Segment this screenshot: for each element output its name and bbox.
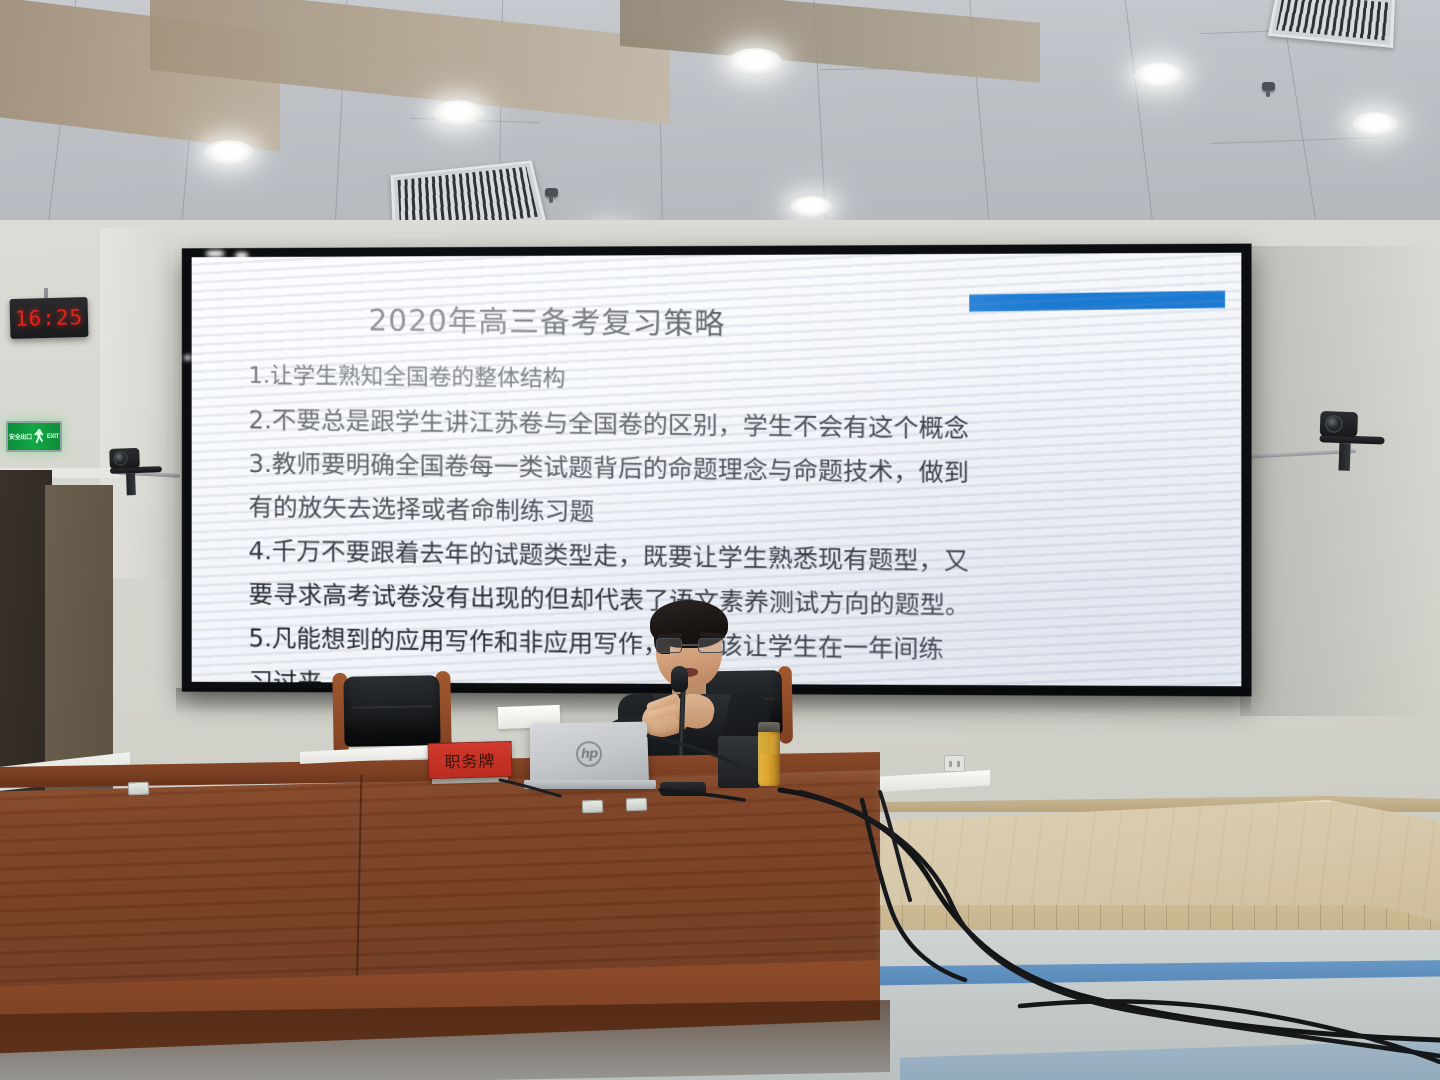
laptop-base [524, 780, 656, 789]
exit-sign-label-cn: 安全出口 [9, 432, 32, 441]
microphone-base [660, 782, 706, 796]
ptz-camera-left [109, 447, 163, 496]
digital-wall-clock: 16:25 [9, 297, 88, 339]
ceiling-downlight [728, 48, 782, 75]
bottle-cap [758, 722, 780, 732]
desk-label-plate [626, 798, 647, 812]
slide-accent-bar [969, 291, 1225, 312]
hp-laptop[interactable]: hp [530, 722, 649, 785]
slide-bullet-2: 2.不要总是跟学生讲江苏卷与全国卷的区别，学生不会有这个概念 [248, 402, 1192, 451]
microphone-head [671, 666, 688, 692]
wall-shadow [1240, 246, 1440, 716]
desk-label-plate [128, 782, 149, 796]
ceiling-downlight [790, 196, 832, 217]
ptz-camera-right [1318, 411, 1385, 472]
lecture-hall-scene: 16:25 安全出口 EXIT 2020年高三备考复习策略 1.让学生熟知全国卷… [0, 0, 1440, 1080]
desk-equipment-box [718, 736, 760, 788]
running-man-icon [34, 429, 45, 444]
ceiling-downlight [1352, 112, 1398, 136]
slide-bullet-1: 1.让学生熟知全国卷的整体结构 [248, 358, 1192, 406]
eyeglasses [656, 638, 724, 653]
ceiling-downlight [1134, 62, 1184, 88]
hp-logo: hp [576, 741, 602, 767]
desk-nameplate: 职务牌 [428, 741, 513, 779]
presenter-chair-left[interactable] [343, 675, 440, 747]
slide-bullet-4: 4.千万不要跟着去年的试题类型走，既要让学生熟悉现有题型，又 [248, 532, 1192, 583]
desk-label-plate [582, 800, 603, 814]
emergency-exit-sign: 安全出口 EXIT [6, 421, 62, 452]
tea-bottle [758, 730, 780, 786]
nameplate-text: 职务牌 [444, 747, 496, 772]
ceiling-downlight [432, 100, 484, 126]
ceiling-downlight [204, 140, 254, 165]
slide-bullet-3-cont: 有的放矢去选择或者命制练习题 [248, 489, 1192, 539]
power-outlet[interactable] [944, 755, 965, 772]
exit-sign-label-en: EXIT [47, 434, 59, 440]
slide-bullet-3: 3.教师要明确全国卷每一类试题背后的命题理念与命题技术，做到 [248, 445, 1192, 494]
sprinkler-head [1262, 82, 1275, 91]
clock-time: 16:25 [15, 305, 84, 331]
sprinkler-head [545, 188, 558, 197]
slide-title: 2020年高三备考复习策略 [368, 296, 725, 343]
